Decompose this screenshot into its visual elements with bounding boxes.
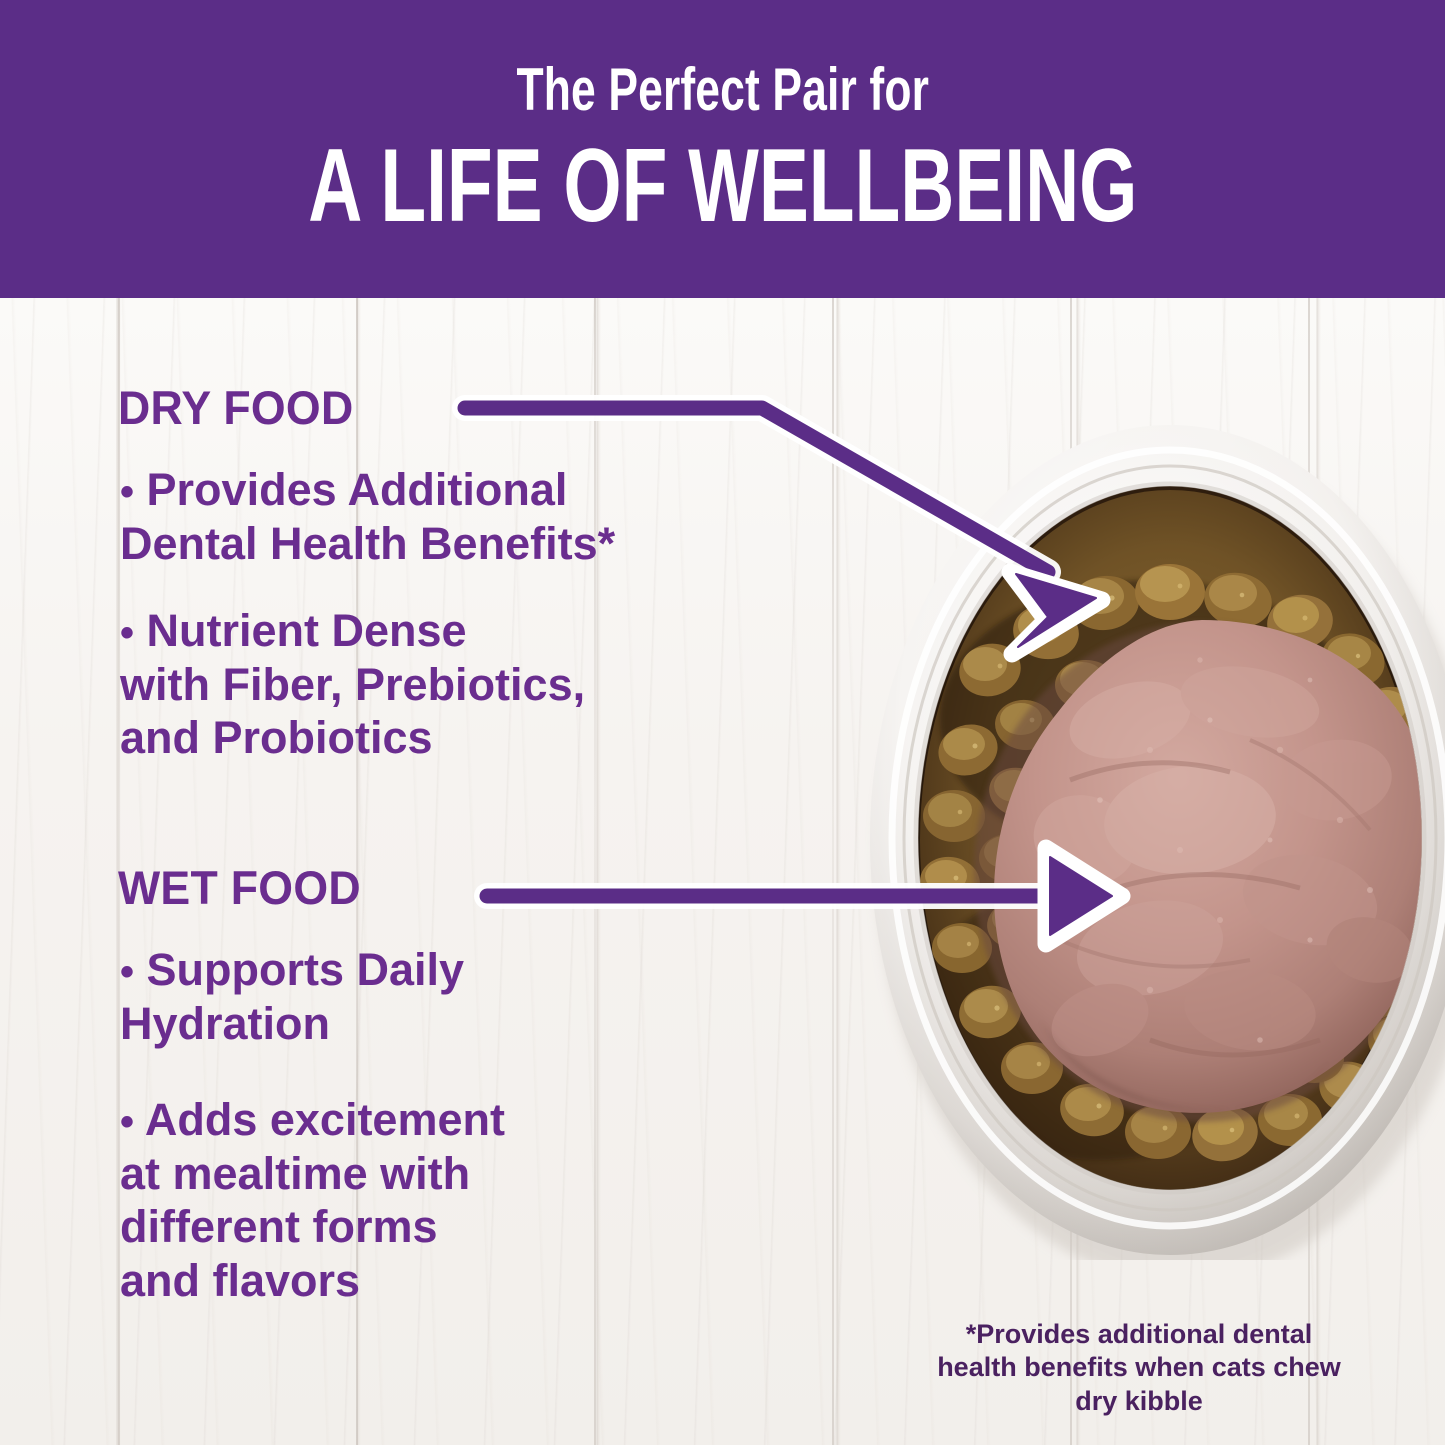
header-banner: The Perfect Pair for A LIFE OF WELLBEING: [0, 0, 1445, 298]
section-heading-dry-food: DRY FOOD: [118, 380, 353, 435]
bullet-dry-2: • Nutrient Dense with Fiber, Prebiotics,…: [120, 604, 760, 765]
cat-food-bowl-photo: [850, 420, 1445, 1260]
bullet-dry-1-line-2: Dental Health Benefits*: [120, 518, 615, 569]
bullet-dry-2-line-3: and Probiotics: [120, 712, 433, 763]
bullet-marker-icon: •: [120, 470, 134, 514]
bullet-wet-1-line-2: Hydration: [120, 998, 330, 1049]
infographic-page: The Perfect Pair for A LIFE OF WELLBEING…: [0, 0, 1445, 1445]
bullet-wet-2: • Adds excitement at mealtime with diffe…: [120, 1093, 760, 1307]
bullet-wet-1-line-1: Supports Daily: [147, 944, 465, 995]
bullet-wet-2-line-4: and flavors: [120, 1255, 360, 1306]
bullet-wet-2-line-3: different forms: [120, 1201, 438, 1252]
bullet-wet-1: • Supports Daily Hydration: [120, 943, 760, 1050]
bullet-dry-2-line-2: with Fiber, Prebiotics,: [120, 659, 585, 710]
banner-subtitle: The Perfect Pair for: [516, 60, 929, 120]
bullet-dry-1: • Provides Additional Dental Health Bene…: [120, 463, 760, 570]
section-heading-wet-food: WET FOOD: [118, 860, 361, 915]
bullet-marker-icon: •: [120, 950, 134, 994]
bullet-marker-icon: •: [120, 611, 134, 655]
footnote-text: *Provides additional dental health benef…: [929, 1318, 1349, 1418]
bullet-wet-2-line-1: Adds excitement: [145, 1094, 505, 1145]
benefits-copy-column: DRY FOOD • Provides Additional Dental He…: [0, 298, 780, 1445]
bullet-wet-2-line-2: at mealtime with: [120, 1148, 470, 1199]
banner-title: A LIFE OF WELLBEING: [308, 134, 1137, 238]
bullet-dry-1-line-1: Provides Additional: [147, 464, 568, 515]
bullet-marker-icon: •: [120, 1100, 134, 1144]
bullet-dry-2-line-1: Nutrient Dense: [147, 605, 467, 656]
